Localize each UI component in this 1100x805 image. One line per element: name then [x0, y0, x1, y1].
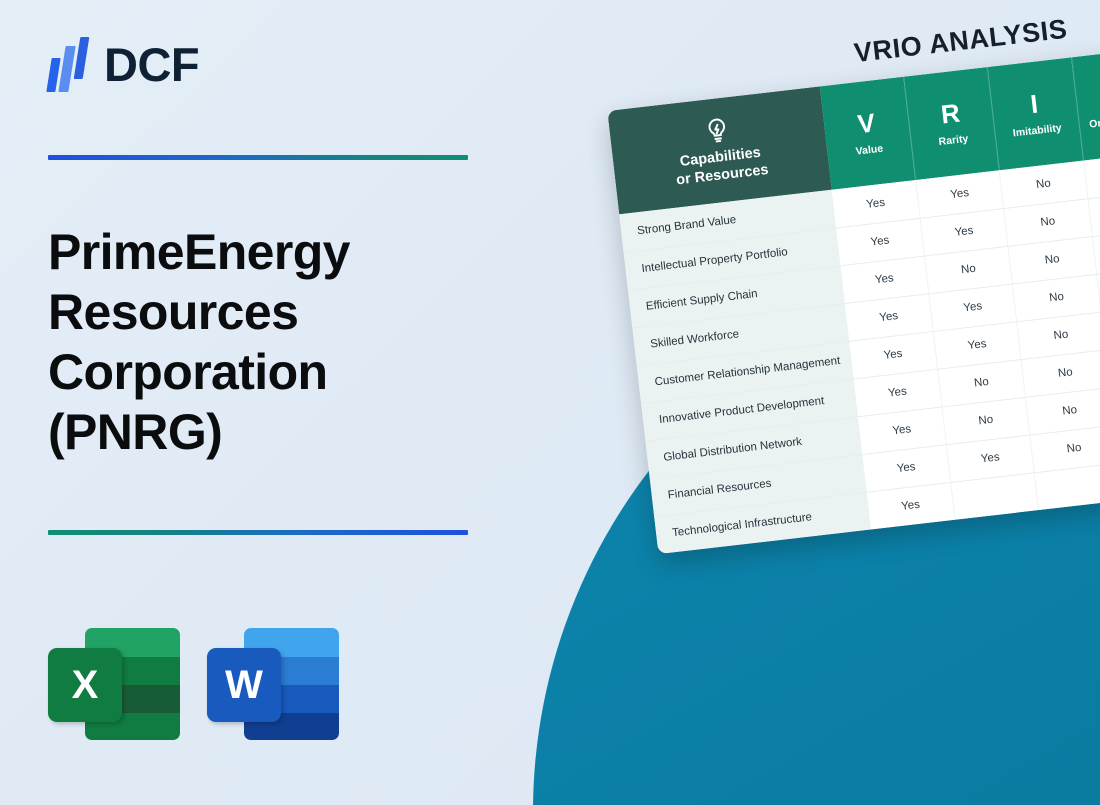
bar-chart-logo-icon: [47, 36, 91, 92]
office-icons-group: X W: [48, 622, 339, 746]
header-organization-sub: Organization: [1081, 110, 1100, 131]
vrio-table: Capabilities or Resources V Value R Rari…: [607, 48, 1100, 554]
divider-top: [48, 155, 468, 160]
header-rarity-letter: R: [909, 96, 991, 131]
title-panel: PrimeEnergy Resources Corporation (PNRG): [48, 155, 468, 535]
header-value: V Value: [820, 77, 916, 190]
lightbulb-icon: [702, 115, 733, 146]
word-badge-letter: W: [207, 648, 281, 722]
word-icon[interactable]: W: [207, 622, 339, 746]
header-rarity-sub: Rarity: [913, 130, 993, 151]
excel-badge-letter: X: [48, 648, 122, 722]
header-imitability-letter: I: [993, 86, 1075, 121]
header-rarity: R Rarity: [904, 67, 1000, 180]
header-value-letter: V: [825, 106, 907, 141]
cell-value: Yes: [867, 482, 955, 529]
vrio-table-card: Capabilities or Resources V Value R Rari…: [607, 48, 1100, 554]
slide-canvas: DCF PrimeEnergy Resources Corporation (P…: [0, 0, 1100, 805]
vrio-table-body: Strong Brand ValueYesYesNoIntellectual P…: [619, 151, 1100, 554]
header-imitability: I Imitability: [987, 57, 1083, 170]
cell-rarity: [951, 472, 1039, 519]
excel-icon[interactable]: X: [48, 622, 180, 746]
page-title: PrimeEnergy Resources Corporation (PNRG): [48, 222, 448, 462]
header-imitability-sub: Imitability: [997, 120, 1077, 141]
logo-text: DCF: [104, 41, 199, 88]
vrio-analysis-graphic: VRIO ANALYSIS: [596, 2, 1100, 603]
header-value-sub: Value: [829, 140, 910, 161]
divider-bottom: [48, 530, 468, 535]
dcf-logo[interactable]: DCF: [47, 36, 199, 92]
header-organization-letter: O: [1077, 77, 1100, 112]
